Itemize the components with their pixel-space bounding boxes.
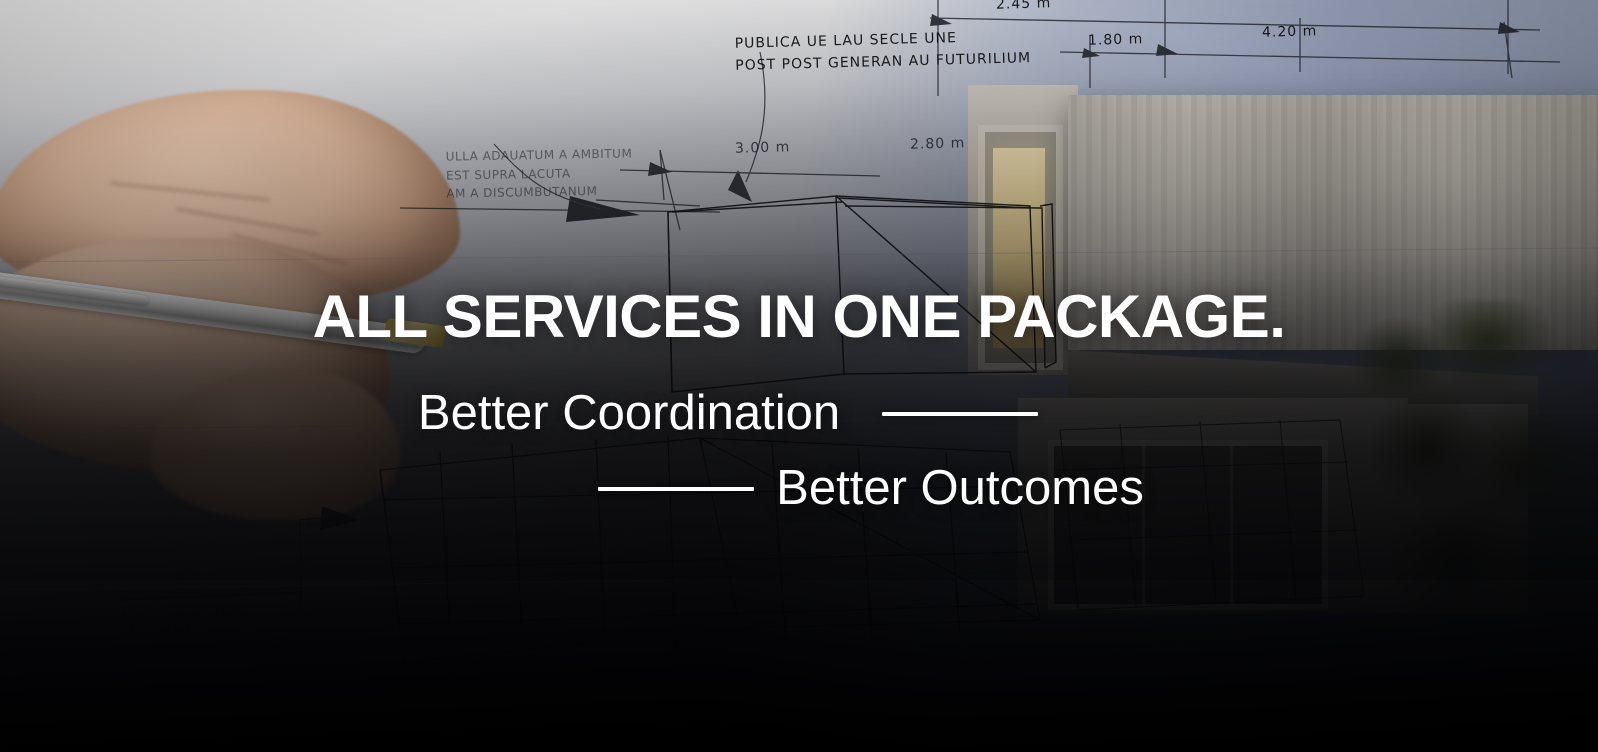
divider-rule-left	[598, 487, 754, 491]
hero-headline: ALL SERVICES IN ONE PACKAGE.	[313, 287, 1286, 347]
hero-subtitle-row-1: Better Coordination	[418, 389, 1038, 438]
hero-subtitle-coordination: Better Coordination	[418, 389, 840, 438]
hero-banner: PUBLICA UE LAU SECLE UNE POST POST GENER…	[0, 0, 1598, 752]
hero-subtitle-outcomes: Better Outcomes	[776, 464, 1144, 513]
hero-content: ALL SERVICES IN ONE PACKAGE. Better Coor…	[0, 0, 1598, 752]
divider-rule-right	[882, 412, 1038, 416]
hero-subtitle-row-2: Better Outcomes	[598, 464, 1144, 513]
